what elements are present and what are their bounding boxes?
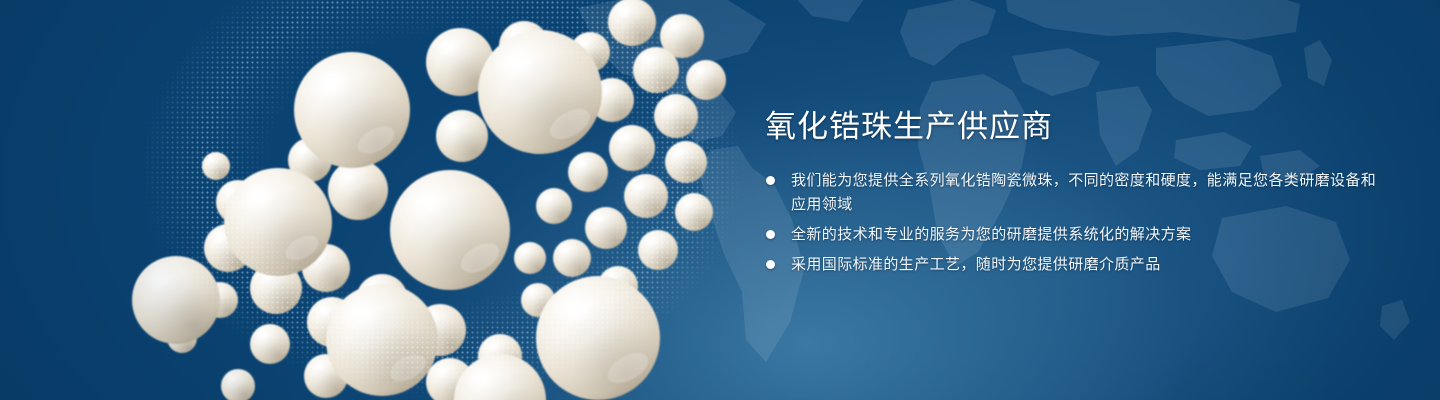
- feature-list-item-text: 全新的技术和专业的服务为您的研磨提供系统化的解决方案: [791, 222, 1385, 246]
- bullet-dot-icon: [766, 260, 775, 269]
- feature-list-item-text: 我们能为您提供全系列氧化锆陶瓷微珠，不同的密度和硬度，能满足您各类研磨设备和应用…: [791, 168, 1385, 216]
- banner-headline: 氧化锆珠生产供应商: [765, 108, 1385, 146]
- banner-feature-list: 我们能为您提供全系列氧化锆陶瓷微珠，不同的密度和硬度，能满足您各类研磨设备和应用…: [766, 168, 1385, 276]
- hero-banner: 氧化锆珠生产供应商 我们能为您提供全系列氧化锆陶瓷微珠，不同的密度和硬度，能满足…: [0, 0, 1440, 400]
- feature-list-item: 全新的技术和专业的服务为您的研磨提供系统化的解决方案: [766, 222, 1385, 246]
- banner-copy: 氧化锆珠生产供应商 我们能为您提供全系列氧化锆陶瓷微珠，不同的密度和硬度，能满足…: [765, 108, 1385, 276]
- bullet-dot-icon: [766, 176, 775, 185]
- feature-list-item-text: 采用国际标准的生产工艺，随时为您提供研磨介质产品: [791, 252, 1385, 276]
- feature-list-item: 我们能为您提供全系列氧化锆陶瓷微珠，不同的密度和硬度，能满足您各类研磨设备和应用…: [766, 168, 1385, 216]
- bullet-dot-icon: [766, 230, 775, 239]
- feature-list-item: 采用国际标准的生产工艺，随时为您提供研磨介质产品: [766, 252, 1385, 276]
